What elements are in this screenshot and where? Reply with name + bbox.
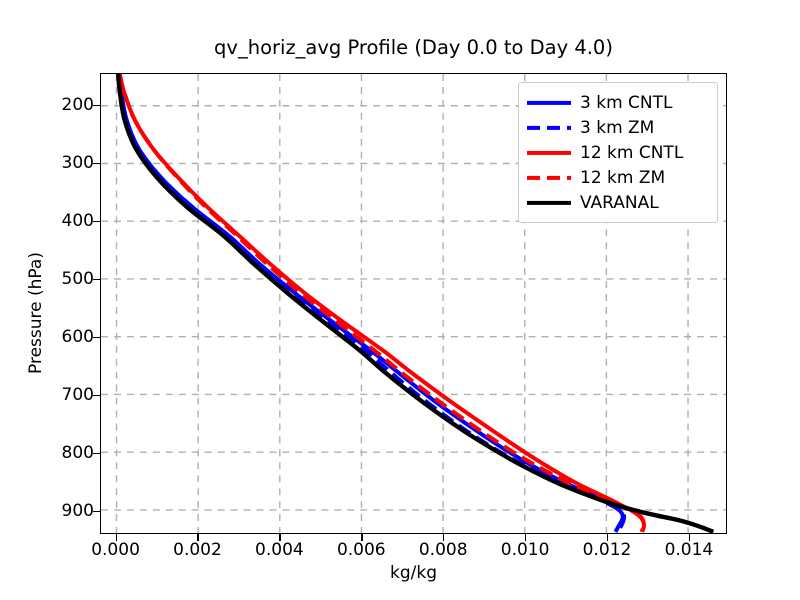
x-tick-mark [197,534,198,541]
x-tick-label: 0.008 [419,540,468,560]
y-tick-label: 400 [62,211,94,231]
legend-label: 3 km CNTL [580,93,672,113]
x-tick-label: 0.000 [91,540,140,560]
x-tick-mark [361,534,362,541]
x-tick-label: 0.012 [583,540,632,560]
figure-canvas: qv_horiz_avg Profile (Day 0.0 to Day 4.0… [0,0,800,600]
y-tick-mark [93,453,100,454]
x-tick-mark [689,534,690,541]
y-tick-label: 900 [62,501,94,521]
legend-swatch-icon [527,121,571,135]
legend-item[interactable]: 3 km ZM [527,115,708,140]
x-tick-mark [607,534,608,541]
y-tick-mark [93,221,100,222]
y-axis-label: Pressure (hPa) [26,213,46,413]
y-tick-mark [93,163,100,164]
y-tick-mark [93,279,100,280]
legend-item[interactable]: 12 km ZM [527,165,708,190]
legend-item[interactable]: 12 km CNTL [527,140,708,165]
x-tick-label: 0.004 [255,540,304,560]
x-tick-mark [443,534,444,541]
legend-swatch-icon [527,146,571,160]
y-tick-label: 700 [62,385,94,405]
x-axis-label: kg/kg [100,563,727,583]
y-tick-label: 500 [62,269,94,289]
y-tick-mark [93,337,100,338]
legend-label: VARANAL [580,193,659,213]
legend-label: 3 km ZM [580,118,654,138]
y-tick-label: 200 [62,95,94,115]
x-tick-label: 0.002 [173,540,222,560]
legend-swatch-icon [527,171,571,185]
y-tick-label: 800 [62,443,94,463]
x-tick-mark [525,534,526,541]
y-tick-mark [93,395,100,396]
legend-item[interactable]: 3 km CNTL [527,90,708,115]
x-tick-mark [116,534,117,541]
x-tick-label: 0.006 [337,540,386,560]
chart-legend: 3 km CNTL3 km ZM12 km CNTL12 km ZMVARANA… [518,82,718,223]
y-tick-mark [93,511,100,512]
chart-title: qv_horiz_avg Profile (Day 0.0 to Day 4.0… [100,36,727,59]
legend-item[interactable]: VARANAL [527,190,708,215]
legend-label: 12 km CNTL [580,143,683,163]
legend-swatch-icon [527,96,571,110]
x-tick-mark [279,534,280,541]
y-tick-label: 600 [62,327,94,347]
legend-label: 12 km ZM [580,168,665,188]
x-tick-label: 0.014 [665,540,714,560]
y-tick-label: 300 [62,153,94,173]
y-tick-mark [93,105,100,106]
legend-swatch-icon [527,196,571,210]
x-tick-label: 0.010 [501,540,550,560]
